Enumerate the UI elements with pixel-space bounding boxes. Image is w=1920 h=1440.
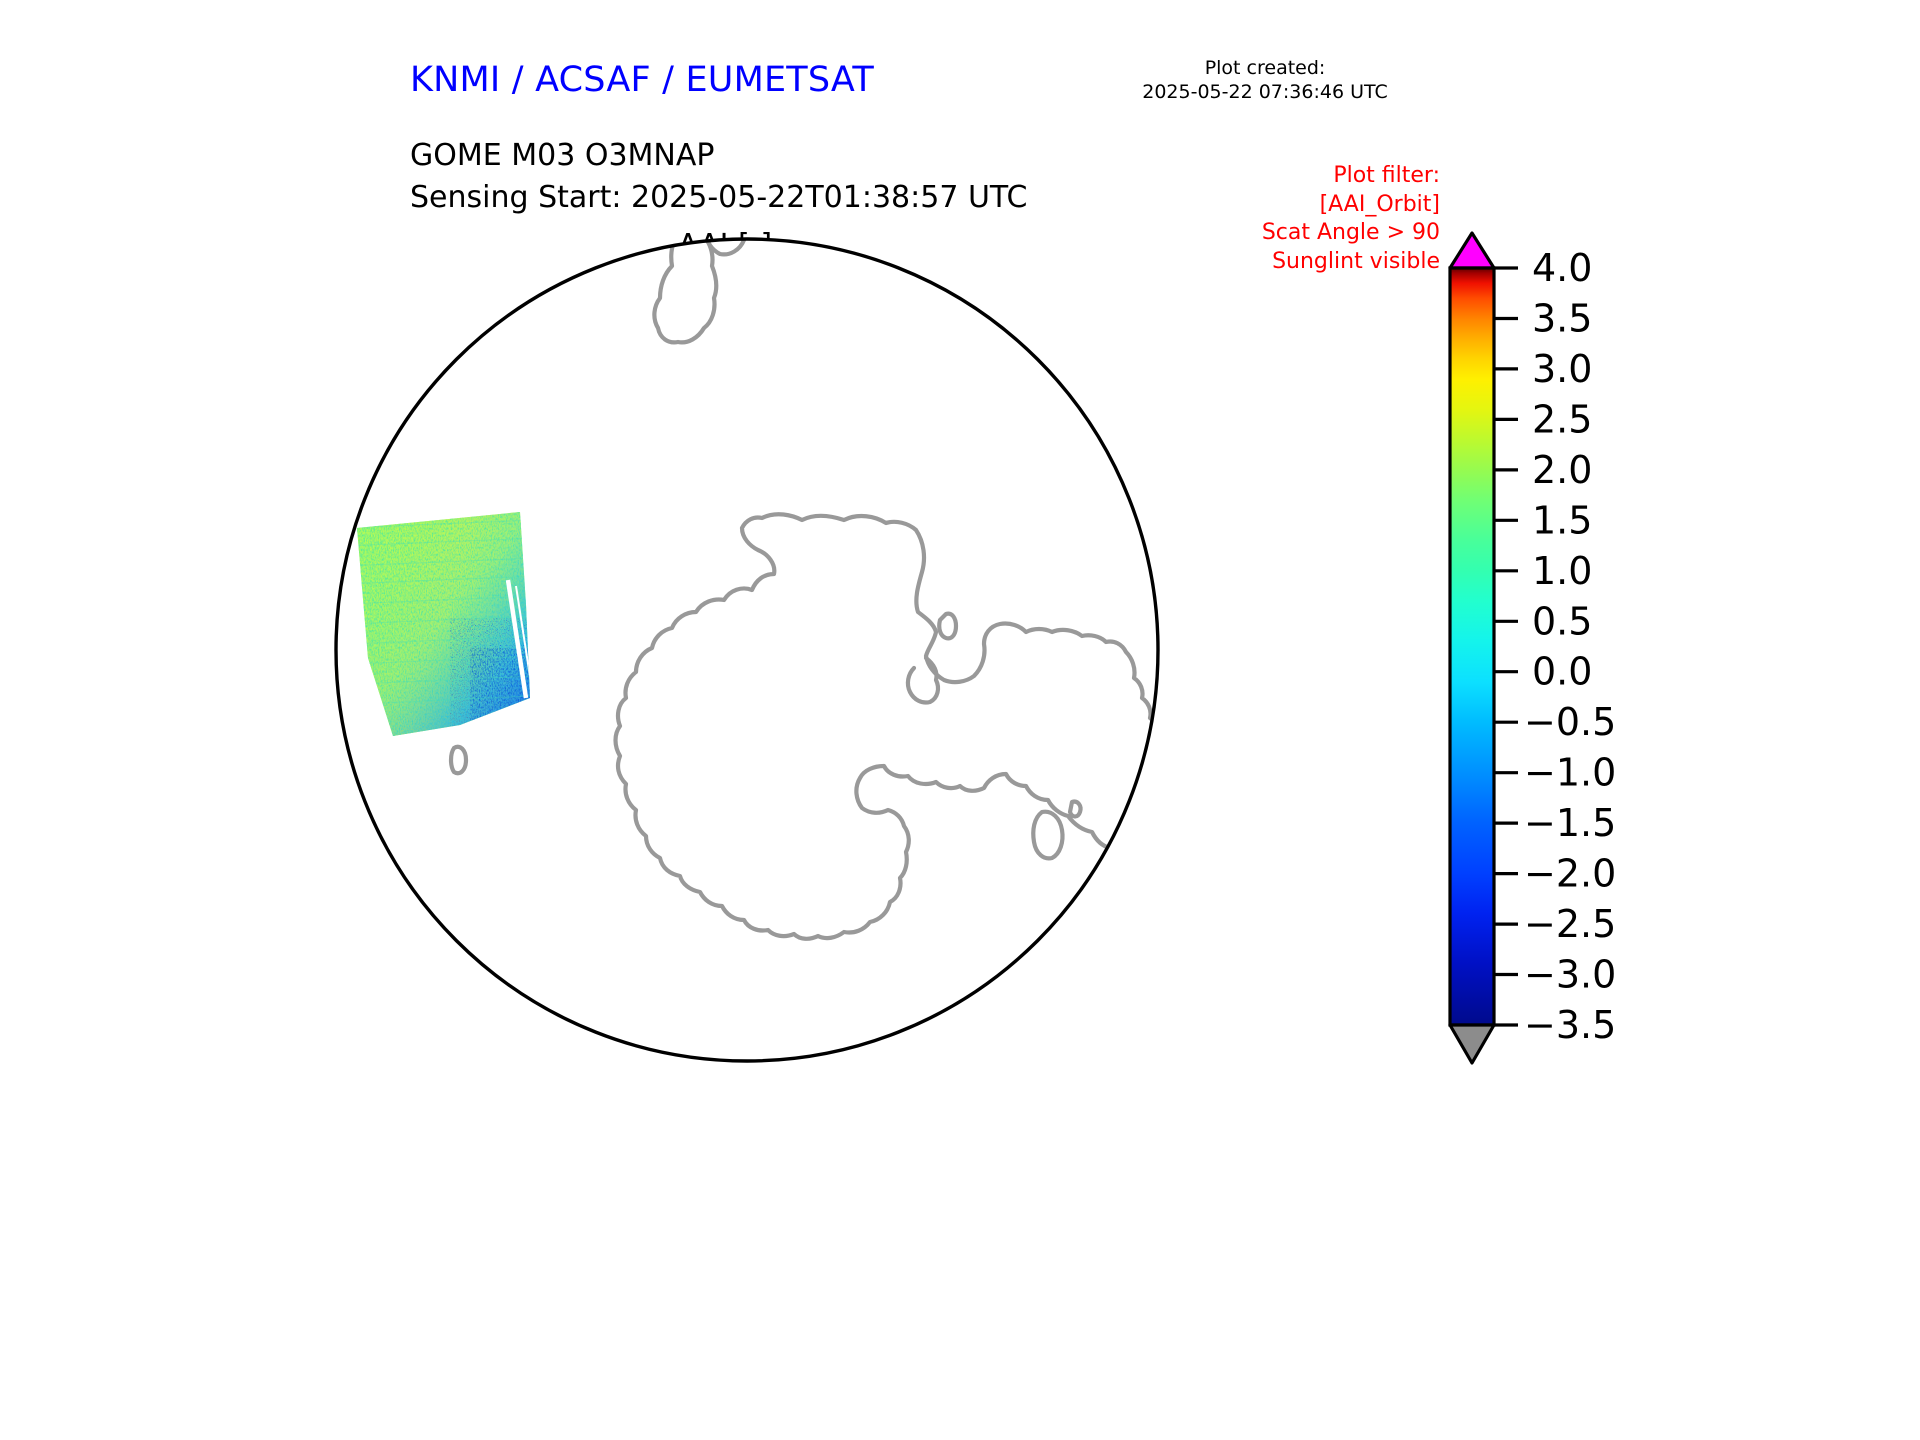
cb-tick-label: −2.5 bbox=[1524, 902, 1616, 946]
orthographic-map bbox=[330, 228, 1170, 1068]
plot-canvas: KNMI / ACSAF / EUMETSAT Plot created: 20… bbox=[0, 0, 1920, 1440]
plot-created-block: Plot created: 2025-05-22 07:36:46 UTC bbox=[1090, 56, 1440, 104]
cb-tick-label: 0.5 bbox=[1532, 599, 1592, 643]
cb-tick-label: 1.0 bbox=[1532, 549, 1592, 593]
cb-tick-label: 3.0 bbox=[1532, 347, 1592, 391]
map-panel bbox=[330, 228, 1170, 1068]
colorbar: 4.0 3.5 3.0 2.5 2.0 1.5 1.0 0.5 0.0 −0.5… bbox=[1440, 225, 1860, 1075]
cb-tick-label: 4.0 bbox=[1532, 246, 1592, 290]
plot-filter-product: [AAI_Orbit] bbox=[1130, 191, 1440, 220]
colorbar-panel: 4.0 3.5 3.0 2.5 2.0 1.5 1.0 0.5 0.0 −0.5… bbox=[1440, 225, 1860, 1075]
cb-tick-label: −3.5 bbox=[1524, 1003, 1616, 1047]
colorbar-under-arrow bbox=[1450, 1025, 1494, 1063]
cb-tick-label: 2.5 bbox=[1532, 397, 1592, 441]
colorbar-over-arrow bbox=[1450, 233, 1494, 268]
instrument-title: GOME M03 O3MNAP bbox=[410, 138, 714, 173]
plot-created-timestamp: 2025-05-22 07:36:46 UTC bbox=[1090, 80, 1440, 104]
colorbar-ticks bbox=[1494, 268, 1518, 1025]
cb-tick-label: 3.5 bbox=[1532, 297, 1592, 341]
cb-tick-label: 2.0 bbox=[1532, 448, 1592, 492]
cb-tick-label: 1.5 bbox=[1532, 498, 1592, 542]
cb-tick-label: −3.0 bbox=[1524, 953, 1616, 997]
colorbar-gradient bbox=[1450, 268, 1494, 1025]
cb-tick-label: −0.5 bbox=[1524, 700, 1616, 744]
cb-tick-label: −1.0 bbox=[1524, 751, 1616, 795]
cb-tick-label: −1.5 bbox=[1524, 801, 1616, 845]
organisation-title: KNMI / ACSAF / EUMETSAT bbox=[410, 60, 874, 100]
coastline-tasmania bbox=[385, 287, 429, 335]
cb-tick-label: −2.0 bbox=[1524, 852, 1616, 896]
coastline-antarctic-peninsula bbox=[1152, 906, 1170, 1033]
plot-filter-label: Plot filter: bbox=[1130, 162, 1440, 191]
cb-tick-label: 0.0 bbox=[1532, 650, 1592, 694]
plot-created-label: Plot created: bbox=[1090, 56, 1440, 80]
colorbar-tick-labels: 4.0 3.5 3.0 2.5 2.0 1.5 1.0 0.5 0.0 −0.5… bbox=[1524, 246, 1616, 1047]
sensing-start-title: Sensing Start: 2025-05-22T01:38:57 UTC bbox=[410, 180, 1027, 215]
